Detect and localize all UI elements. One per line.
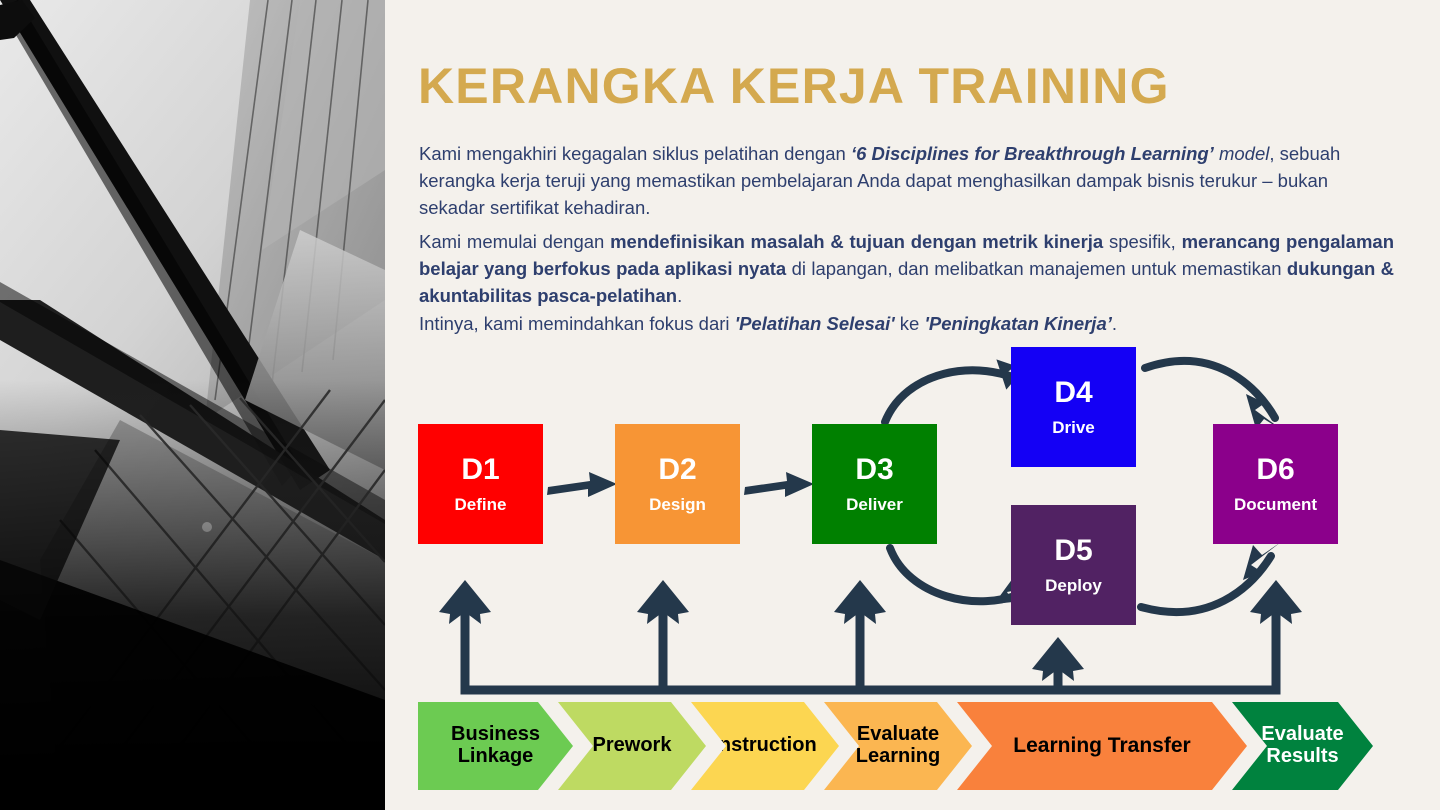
learning-value-chain-band: Business Linkage Prework Instruction Eva… [418,702,1373,790]
node-d5[interactable]: D5 Deploy [1011,505,1136,625]
band-step-learning-transfer[interactable]: Learning Transfer [957,702,1247,790]
node-d5-code: D5 [1054,536,1092,566]
slide-root: KERANGKA KERJA TRAINING Kami mengakhiri … [0,0,1440,810]
node-d1-label: Define [455,496,507,513]
architecture-photo-illustration [0,0,385,810]
node-d3-code: D3 [855,455,893,485]
node-d4[interactable]: D4 Drive [1011,347,1136,467]
node-d3[interactable]: D3 Deliver [812,424,937,544]
arrow-d1-to-d2 [547,472,617,497]
node-d1-code: D1 [461,455,499,485]
band-step-evaluate-results[interactable]: Evaluate Results [1232,702,1373,790]
node-d6[interactable]: D6 Document [1213,424,1338,544]
node-d6-code: D6 [1256,455,1294,485]
band-step-business-linkage[interactable]: Business Linkage [418,702,573,790]
node-d1[interactable]: D1 Define [418,424,543,544]
band-step-instruction[interactable]: Instruction [691,702,839,790]
sixd-framework-diagram: D1 Define D2 Design D3 Deliver D4 Drive … [385,0,1440,810]
content-pane: KERANGKA KERJA TRAINING Kami mengakhiri … [385,0,1440,810]
diagram-arrows [385,0,1440,810]
band-step-evaluate-learning[interactable]: Evaluate Learning [824,702,972,790]
band-step-learning-transfer-label: Learning Transfer [1009,735,1194,758]
band-step-evaluate-learning-label: Evaluate Learning [824,724,972,767]
node-d2-code: D2 [658,455,696,485]
node-d4-code: D4 [1054,378,1092,408]
band-step-prework-label: Prework [589,735,676,757]
node-d2-label: Design [649,496,706,513]
band-step-business-linkage-label: Business Linkage [418,724,573,767]
arrow-d2-to-d3 [744,472,814,497]
feedback-arrowheads [439,580,1302,681]
node-d4-label: Drive [1052,419,1095,436]
node-d3-label: Deliver [846,496,903,513]
band-step-prework[interactable]: Prework [558,702,706,790]
band-step-instruction-label: Instruction [709,735,820,757]
band-step-evaluate-results-label: Evaluate Results [1232,724,1373,767]
hero-photo [0,0,385,810]
node-d5-label: Deploy [1045,577,1102,594]
node-d6-label: Document [1234,496,1317,513]
node-d2[interactable]: D2 Design [615,424,740,544]
